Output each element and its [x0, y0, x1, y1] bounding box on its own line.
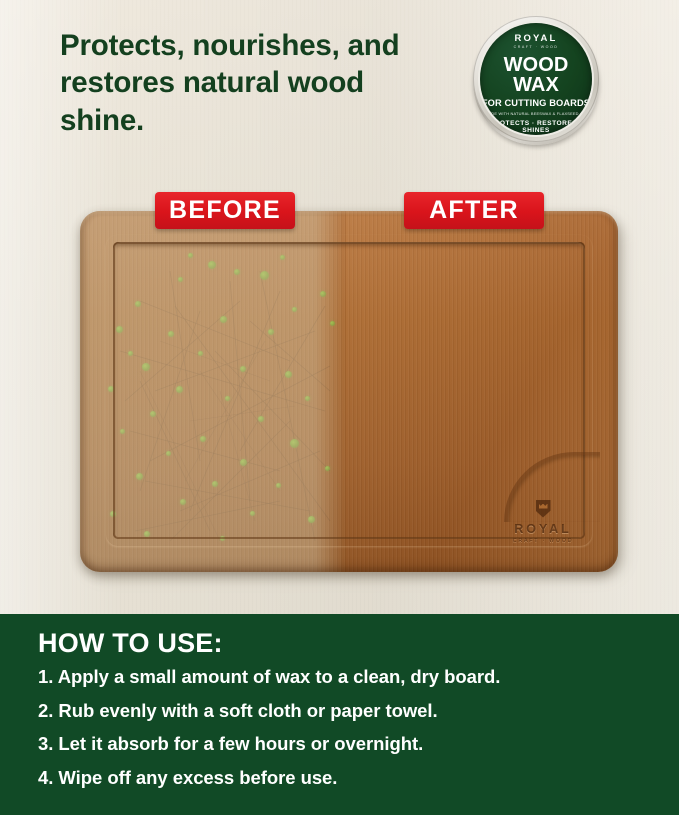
how-to-use-step: 3. Let it absorb for a few hours or over…	[38, 735, 679, 754]
board-logo-name: ROYAL	[504, 523, 582, 536]
how-to-use-heading: HOW TO USE:	[38, 628, 679, 659]
tin-ingredients-text: MADE WITH NATURAL BEESWAX & FLAXSEED OIL	[485, 111, 587, 116]
tin-label-face: ROYAL CRAFT · WOOD WOOD WAX FOR CUTTING …	[480, 23, 592, 135]
tin-product-subtitle: FOR CUTTING BOARDS	[482, 98, 590, 108]
how-to-use-step: 2. Rub evenly with a soft cloth or paper…	[38, 702, 679, 721]
crown-shield-icon	[536, 500, 551, 518]
tin-product-title: WOOD WAX	[480, 55, 592, 95]
after-badge: AFTER	[404, 192, 544, 229]
before-badge: BEFORE	[155, 192, 295, 229]
board-engraved-logo: ROYAL CRAFT · WOOD	[504, 500, 582, 545]
headline-text: Protects, nourishes, and restores natura…	[60, 27, 450, 139]
cutting-board-image: ROYAL CRAFT · WOOD	[80, 211, 618, 572]
tin-brand-name: ROYAL	[515, 34, 558, 44]
tin-brand-subtitle: CRAFT · WOOD	[514, 45, 559, 49]
board-logo-subtitle: CRAFT · WOOD	[504, 538, 582, 544]
product-tin: ROYAL CRAFT · WOOD WOOD WAX FOR CUTTING …	[470, 13, 607, 147]
how-to-use-step: 1. Apply a small amount of wax to a clea…	[38, 668, 679, 687]
how-to-use-step: 4. Wipe off any excess before use.	[38, 769, 679, 788]
how-to-use-panel: HOW TO USE: 1. Apply a small amount of w…	[0, 614, 679, 815]
